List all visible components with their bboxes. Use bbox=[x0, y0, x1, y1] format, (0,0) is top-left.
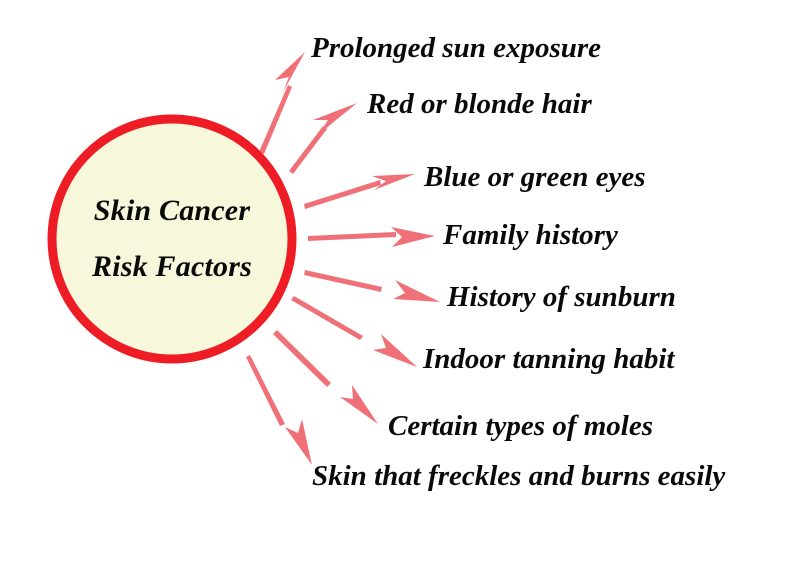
factor-label-indoor-tanning-habit: Indoor tanning habit bbox=[423, 344, 674, 375]
factor-label-blue-or-green-eyes: Blue or green eyes bbox=[424, 162, 646, 193]
factor-label-history-of-sunburn: History of sunburn bbox=[447, 282, 676, 313]
factor-label-prolonged-sun-exposure: Prolonged sun exposure bbox=[311, 33, 601, 64]
factor-label-certain-types-of-moles: Certain types of moles bbox=[388, 411, 653, 442]
connector-arrow-family-history bbox=[308, 227, 435, 247]
factor-label-red-or-blonde-hair: Red or blonde hair bbox=[367, 89, 592, 120]
connector-arrow-skin-that-freckles-and-burns-easily bbox=[246, 355, 312, 465]
connector-arrow-blue-or-green-eyes bbox=[304, 174, 415, 209]
connector-arrow-prolonged-sun-exposure bbox=[259, 52, 305, 154]
connector-arrow-history-of-sunburn bbox=[304, 270, 440, 302]
diagram-canvas: Skin Cancer Risk Factors Prolonged sun e… bbox=[0, 0, 800, 572]
center-node-circle bbox=[52, 119, 292, 359]
connector-arrow-red-or-blonde-hair bbox=[289, 103, 357, 174]
connector-arrow-indoor-tanning-habit bbox=[291, 296, 417, 367]
connector-arrow-certain-types-of-moles bbox=[273, 330, 378, 424]
factor-label-family-history: Family history bbox=[443, 220, 618, 251]
factor-label-skin-that-freckles-and-burns-easily: Skin that freckles and burns easily bbox=[312, 461, 782, 492]
